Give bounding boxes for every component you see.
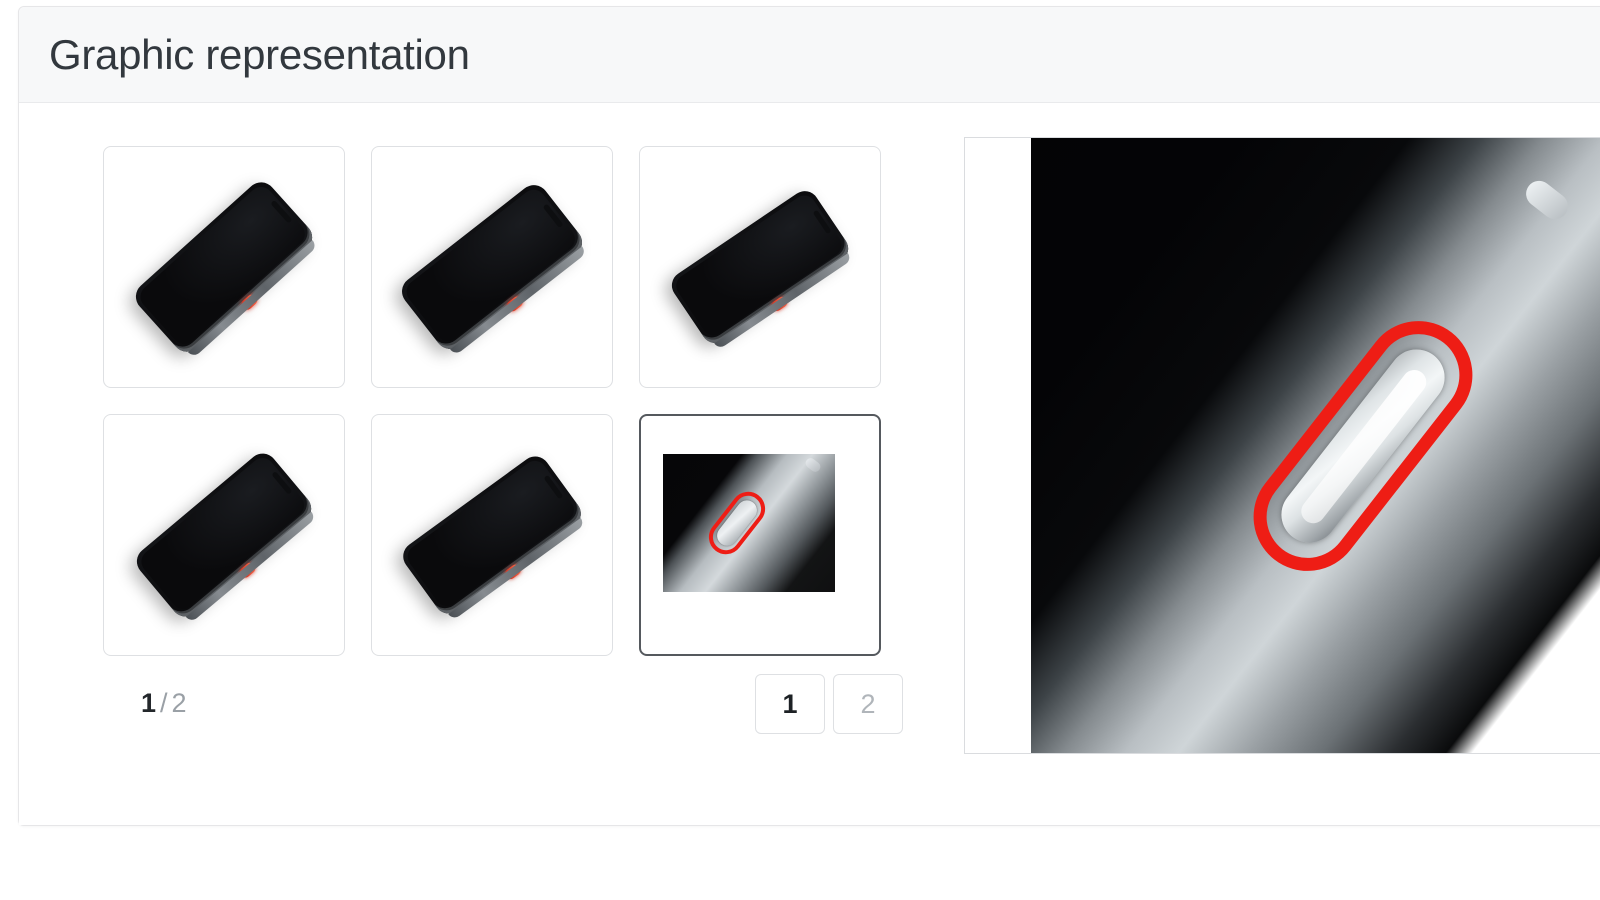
- thumbnail-4[interactable]: [103, 414, 345, 656]
- page-counter: 1/2: [141, 688, 187, 719]
- thumbnail-2[interactable]: [371, 146, 613, 388]
- card-header: Graphic representation: [19, 7, 1600, 103]
- pager-button-1[interactable]: 1: [755, 674, 825, 734]
- thumbnail-3-image: [640, 147, 880, 387]
- phone-body-icon: [666, 186, 853, 349]
- gallery-pagination-row: 1/2 1 2: [103, 674, 903, 734]
- page-counter-current: 1: [141, 688, 156, 718]
- phone-screen: [403, 456, 579, 610]
- phone-body-icon: [397, 451, 586, 620]
- page-counter-total: 2: [172, 688, 187, 718]
- thumbnail-6[interactable]: [639, 414, 881, 656]
- thumbnail-4-image: [104, 415, 344, 655]
- phone-illustration: [104, 147, 344, 387]
- phone-illustration: [372, 147, 612, 387]
- preview-image: [1031, 138, 1600, 753]
- phone-screen: [136, 182, 310, 349]
- phone-screen: [402, 185, 580, 346]
- pager: 1 2: [755, 674, 903, 734]
- page-counter-separator: /: [160, 688, 168, 718]
- thumbnail-5[interactable]: [371, 414, 613, 656]
- thumbnail-6-image: [663, 454, 835, 592]
- card-body: 1/2 1 2: [19, 104, 1600, 825]
- thumbnail-3[interactable]: [639, 146, 881, 388]
- graphic-representation-card: Graphic representation: [18, 6, 1600, 826]
- pager-button-2[interactable]: 2: [833, 674, 903, 734]
- page-title: Graphic representation: [49, 34, 470, 76]
- thumbnail-5-image: [372, 415, 612, 655]
- thumbnail-2-image: [372, 147, 612, 387]
- phone-screen: [137, 453, 309, 614]
- phone-body-icon: [130, 176, 318, 357]
- phone-illustration: [104, 415, 344, 655]
- thumbnail-column: [103, 146, 903, 656]
- phone-body-icon: [396, 179, 588, 355]
- screen-root: Graphic representation: [0, 0, 1600, 900]
- preview-panel[interactable]: [964, 137, 1600, 754]
- thumbnail-grid: [103, 146, 903, 656]
- thumbnail-1-image: [104, 147, 344, 387]
- phone-illustration: [372, 415, 612, 655]
- phone-body-icon: [131, 448, 317, 623]
- thumbnail-1[interactable]: [103, 146, 345, 388]
- phone-illustration: [640, 147, 880, 387]
